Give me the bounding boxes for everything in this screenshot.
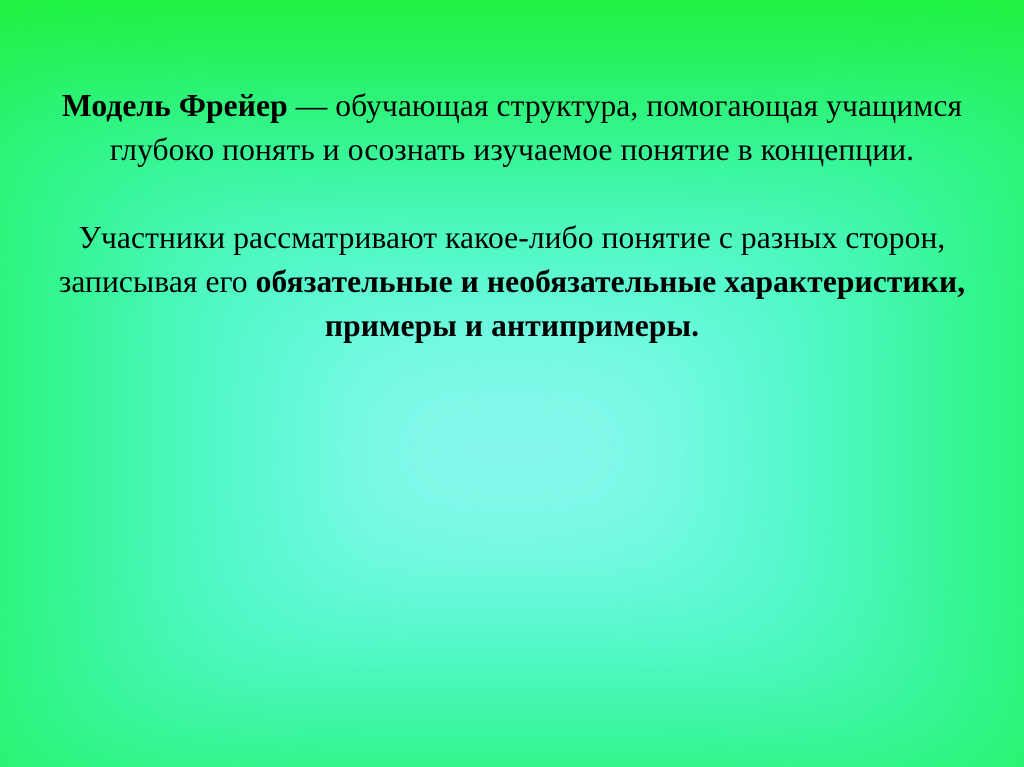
paragraph-description: Участники рассматривают какое-либо понят… [56,216,968,348]
slide-content: Модель Фрейер — обучающая структура, пом… [0,0,1024,767]
term-model-name: Модель Фрейер [62,88,288,123]
slide-text-block: Модель Фрейер — обучающая структура, пом… [56,84,968,348]
slide: Модель Фрейер — обучающая структура, пом… [0,0,1024,767]
paragraph-spacer [56,172,968,216]
description-emphasis-text: обязательные и необязательные характерис… [256,264,966,343]
paragraph-definition: Модель Фрейер — обучающая структура, пом… [56,84,968,172]
